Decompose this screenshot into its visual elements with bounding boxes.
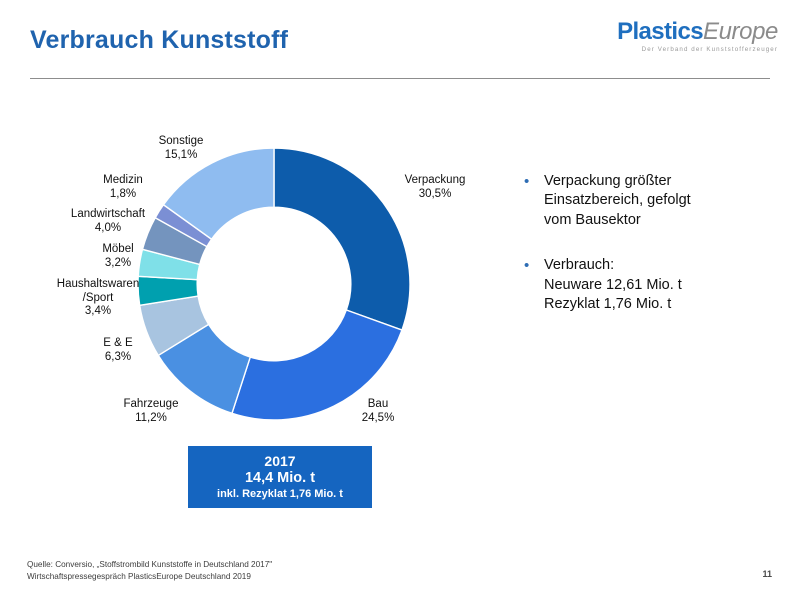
slice-label-moebel-value: 3,2% [72,257,164,271]
slice-label-ee: E & E 6,3% [72,337,164,364]
slice-label-fahrzeuge-name: Fahrzeuge [96,398,206,412]
slice-label-verpackung-value: 30,5% [380,188,490,202]
bullet-item: • Verpackung größter Einsatzbereich, gef… [520,172,788,230]
slice-label-sonstige: Sonstige 15,1% [126,135,236,162]
logo-tagline: Der Verband der Kunststofferzeuger [617,47,778,53]
slice-label-landwirtschaft: Landwirtschaft 4,0% [47,208,169,235]
slice-label-haushaltswaren-value: 3,4% [32,305,164,319]
summary-total: 14,4 Mio. t [245,470,315,488]
slice-label-verpackung: Verpackung 30,5% [380,174,490,201]
slice-label-fahrzeuge-value: 11,2% [96,412,206,426]
slice-label-ee-name: E & E [72,337,164,351]
logo-wordmark: PlasticsEurope [617,20,778,44]
logo-europe-text: Europe [703,18,778,45]
slice-label-haushaltswaren-name2: /Sport [32,292,164,306]
bullet-text: Verpackung größter Einsatzbereich, gefol… [544,172,691,230]
slice-label-sonstige-name: Sonstige [126,135,236,149]
slice-label-bau-value: 24,5% [338,412,418,426]
page-number: 11 [762,569,772,579]
slice-label-ee-value: 6,3% [72,351,164,365]
slice-label-medizin: Medizin 1,8% [78,174,168,201]
slice-label-medizin-name: Medizin [78,174,168,188]
slice-label-bau: Bau 24,5% [338,398,418,425]
bullet-dot-icon: • [520,256,544,314]
slice-label-moebel: Möbel 3,2% [72,243,164,270]
donut-graphic [138,148,410,420]
summary-note: inkl. Rezyklat 1,76 Mio. t [217,488,343,501]
plasticseurope-logo: PlasticsEurope Der Verband der Kunststof… [617,20,778,53]
slice-label-landwirtschaft-name: Landwirtschaft [47,208,169,222]
summary-year: 2017 [264,453,295,470]
slice-label-moebel-name: Möbel [72,243,164,257]
bullet-item: • Verbrauch: Neuware 12,61 Mio. t Rezykl… [520,256,788,314]
slice-label-sonstige-value: 15,1% [126,149,236,163]
summary-box: 2017 14,4 Mio. t inkl. Rezyklat 1,76 Mio… [188,446,372,508]
slice-label-haushaltswaren-name: Haushaltswaren [32,278,164,292]
bullet-dot-icon: • [520,172,544,230]
logo-plastics-text: Plastics [617,18,703,45]
slice-label-bau-name: Bau [338,398,418,412]
slice-label-verpackung-name: Verpackung [380,174,490,188]
slice-label-landwirtschaft-value: 4,0% [47,222,169,236]
bullet-text: Verbrauch: Neuware 12,61 Mio. t Rezyklat… [544,256,682,314]
page-title: Verbrauch Kunststoff [30,26,288,55]
header-divider [30,78,770,79]
slice-label-medizin-value: 1,8% [78,188,168,202]
source-note: Quelle: Conversio, „Stoffstrombild Kunst… [27,559,272,583]
slide: Verbrauch Kunststoff PlasticsEurope Der … [0,0,800,596]
bullet-list: • Verpackung größter Einsatzbereich, gef… [520,172,788,341]
slice-label-fahrzeuge: Fahrzeuge 11,2% [96,398,206,425]
donut-svg [138,148,410,420]
slice-label-haushaltswaren: Haushaltswaren /Sport 3,4% [32,278,164,319]
